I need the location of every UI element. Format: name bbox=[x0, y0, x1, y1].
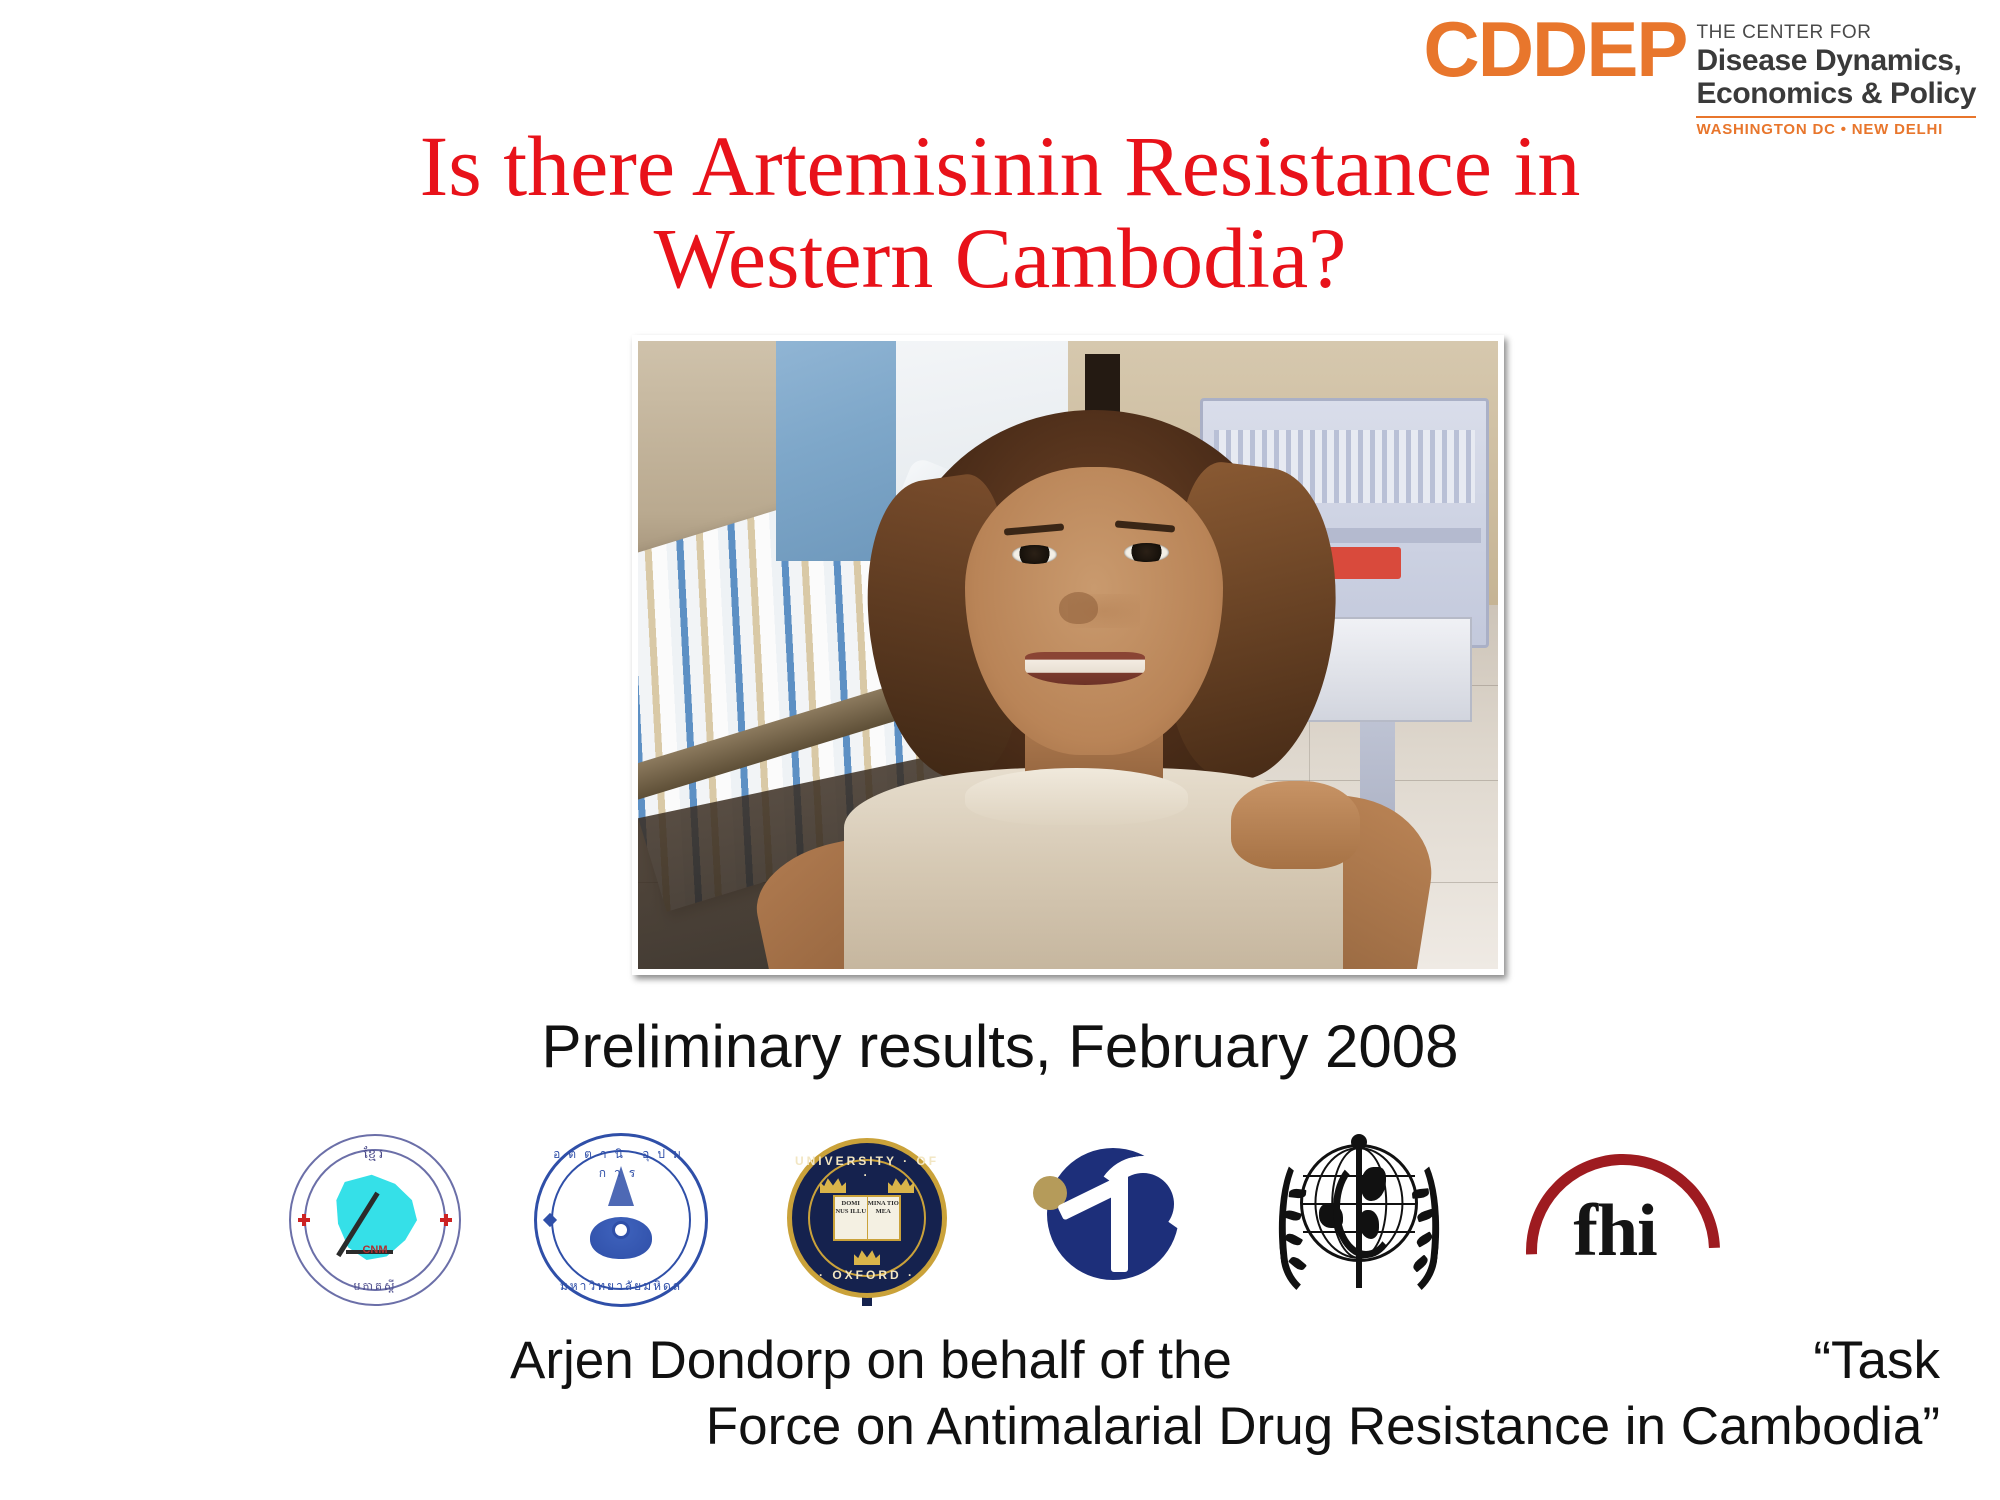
cddep-tagline-line2: Economics & Policy bbox=[1696, 77, 1976, 111]
mahidol-center-dot-icon bbox=[612, 1221, 630, 1239]
slide-photo bbox=[632, 335, 1504, 975]
mahidol-seal-icon: อตตานิ อุปม การ มหาวิทยาลัยมหิดล bbox=[534, 1133, 708, 1307]
cddep-wordmark: CDDEP bbox=[1423, 14, 1686, 84]
girl-eye-left bbox=[1012, 545, 1057, 564]
cddep-divider bbox=[1696, 116, 1976, 118]
girl-collar bbox=[965, 768, 1189, 825]
who-rod-knob bbox=[1351, 1134, 1367, 1150]
who-icon bbox=[1275, 1136, 1443, 1304]
mahidol-crown-icon bbox=[608, 1166, 634, 1206]
cddep-tagline-line1: Disease Dynamics, bbox=[1696, 44, 1976, 78]
photo-content bbox=[638, 341, 1498, 969]
presenter-credit: Arjen Dondorp on behalf of the bbox=[510, 1328, 1232, 1394]
slide-attribution: Arjen Dondorp on behalf of the “Task For… bbox=[0, 1328, 2000, 1459]
wellcome-stem bbox=[1111, 1168, 1128, 1272]
red-cross-icon-left bbox=[298, 1214, 310, 1226]
red-cross-icon-right bbox=[440, 1214, 452, 1226]
oxford-seal-icon: UNIVERSITY · OF · DOMI NUS ILLU MINA TIO… bbox=[788, 1136, 946, 1304]
logo-world-health-organization bbox=[1264, 1130, 1454, 1310]
girl-nose bbox=[1059, 592, 1098, 623]
cnm-khmer-bottom-text: មភាគស្ដី bbox=[291, 1280, 459, 1296]
logo-mahidol-university: อตตานิ อุปม การ มหาวิทยาลัยมหิดล bbox=[526, 1130, 716, 1310]
oxford-book-left-page: DOMI NUS ILLU bbox=[835, 1197, 867, 1239]
girl-eye-right bbox=[1124, 543, 1169, 562]
oxford-ring-bottom-text: · OXFORD · bbox=[792, 1268, 942, 1282]
cddep-tagline-small: THE CENTER FOR bbox=[1696, 22, 1976, 44]
who-serpent-icon bbox=[1333, 1158, 1399, 1258]
partner-logo-row: ខ្មែរ CNM មភាគស្ដី อตตานิ อุปม การ มหาวิ… bbox=[0, 1125, 2000, 1315]
girl-hand bbox=[1231, 781, 1360, 869]
logo-wellcome-trust bbox=[1018, 1130, 1208, 1310]
wellcome-trust-icon bbox=[1033, 1140, 1193, 1300]
girl-smile bbox=[1025, 652, 1145, 685]
oxford-ring-top-text: UNIVERSITY · OF · bbox=[792, 1154, 942, 1182]
logo-cnm-cambodia: ខ្មែរ CNM មភាគស្ដី bbox=[280, 1130, 470, 1310]
attribution-line-1: Arjen Dondorp on behalf of the “Task bbox=[0, 1328, 2000, 1394]
slide-title-line1: Is there Artemisinin Resistance in bbox=[0, 120, 2000, 212]
slide-subtitle: Preliminary results, February 2008 bbox=[0, 1012, 2000, 1081]
cnm-seal-icon: ខ្មែរ CNM មភាគស្ដី bbox=[289, 1134, 461, 1306]
oxford-book-right-page: MINA TIO MEA bbox=[867, 1197, 900, 1239]
oxford-open-book-icon: DOMI NUS ILLU MINA TIO MEA bbox=[833, 1195, 901, 1241]
logo-university-of-oxford: UNIVERSITY · OF · DOMI NUS ILLU MINA TIO… bbox=[772, 1130, 962, 1310]
slide-title-line2: Western Cambodia? bbox=[0, 212, 2000, 304]
logo-fhi: fhi bbox=[1510, 1130, 1720, 1310]
slide-title: Is there Artemisinin Resistance in Weste… bbox=[0, 120, 2000, 304]
fhi-icon: fhi bbox=[1520, 1150, 1710, 1290]
fhi-wordmark: fhi bbox=[1520, 1194, 1710, 1268]
oxford-ring: UNIVERSITY · OF · DOMI NUS ILLU MINA TIO… bbox=[787, 1138, 947, 1298]
cnm-abbreviation: CNM bbox=[291, 1244, 459, 1256]
taskforce-name-start: “Task bbox=[1813, 1328, 1940, 1394]
cnm-khmer-top-text: ខ្មែរ bbox=[291, 1146, 459, 1165]
mahidol-thai-bottom-text: มหาวิทยาลัยมหิดล bbox=[537, 1277, 705, 1296]
attribution-line-2: Force on Antimalarial Drug Resistance in… bbox=[0, 1394, 2000, 1460]
